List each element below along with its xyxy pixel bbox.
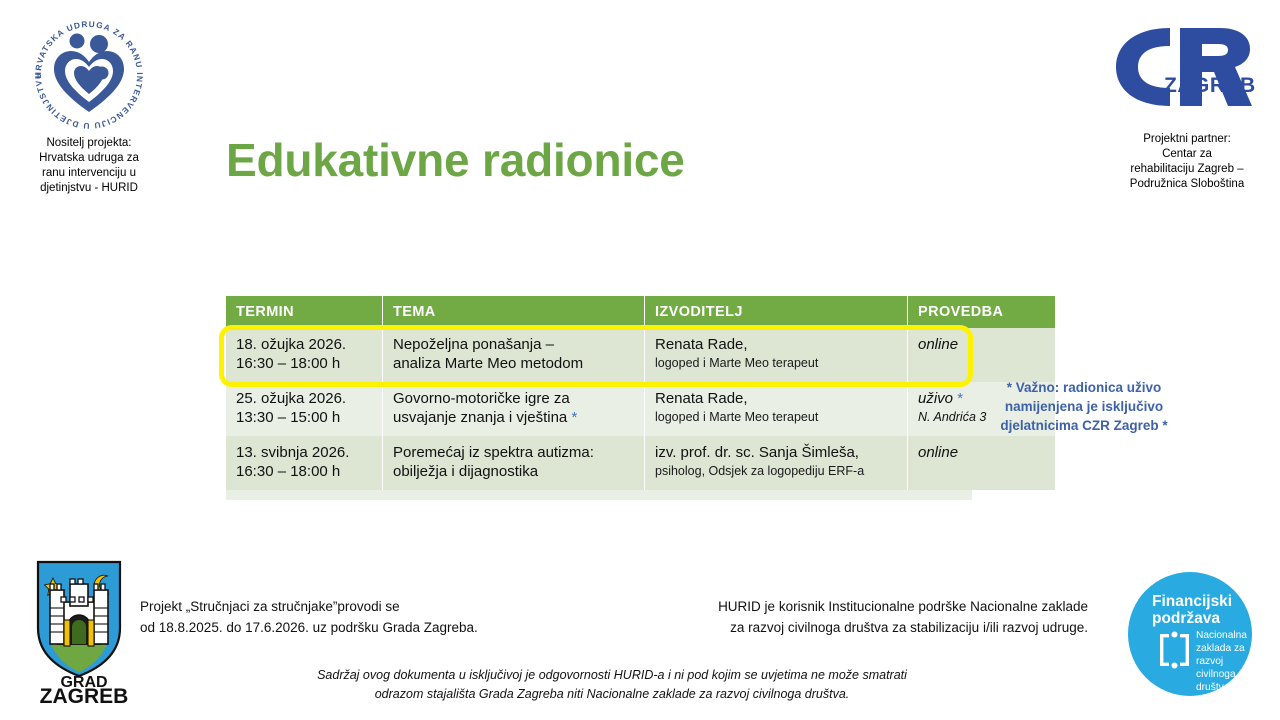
footer-right-line-2: za razvoj civilnoga društva za stabiliza… [660,617,1088,638]
table-row: 18. ožujka 2026. 16:30 – 18:00 h Nepožel… [226,328,1055,382]
cell-izvoditelj: Renata Rade, logoped i Marte Meo terapeu… [645,382,908,436]
cell-izvoditelj: Renata Rade, logoped i Marte Meo terapeu… [645,328,908,382]
hurid-caption-line-1: Nositelj projekta: [6,136,172,151]
nz-title-line-2: podržava [1152,610,1220,627]
termin-date: 18. ožujka 2026. [236,336,346,353]
izvoditelj-name: izv. prof. dr. sc. Sanja Šimleša, [655,444,859,461]
table-bottom-strip [226,490,972,500]
cell-tema: Govorno-motoričke igre za usvajanje znan… [383,382,645,436]
czr-logo-word: ZAGREB [1164,74,1256,97]
column-header-termin: TERMIN [226,296,383,328]
footer-disclaimer: Sadržaj ovog dokumenta u isključivoj je … [300,666,924,704]
provedba-mode: online [918,444,958,461]
nacionalna-zaklada-circle-logo: Financijski podržava Nacionalna zaklada … [1128,572,1252,696]
tema-line-2: analiza Marte Meo metodom [393,355,583,372]
footer-disclaimer-line-2: odrazom stajališta Grada Zagreba niti Na… [300,685,924,704]
hurid-caption: Nositelj projekta: Hrvatska udruga za ra… [6,136,172,196]
czr-caption-line-1: Projektni partner: [1094,132,1280,147]
tema-line-2: usvajanje znanja i vještina [393,409,567,426]
cell-provedba: online [908,436,1056,490]
tema-line-2: obilježja i dijagnostika [393,463,538,480]
cell-provedba: online [908,328,1056,382]
important-note-line-1: * Važno: radionica uživo [975,378,1193,397]
hurid-caption-line-4: djetinjstvu - HURID [6,181,172,196]
page-title: Edukativne radionice [226,133,685,187]
nz-sub-line-5: društva [1196,682,1230,693]
nz-sub-line-2: zaklada za [1196,643,1245,654]
tema-line-1: Nepoželjna ponašanja – [393,336,554,353]
important-note-line-3: djelatnicima CZR Zagreb * [975,416,1193,435]
izvoditelj-role: logoped i Marte Meo terapeut [655,409,897,426]
footer-right-text: HURID je korisnik Institucionalne podršk… [660,596,1088,638]
izvoditelj-name: Renata Rade, [655,390,748,407]
footer-left-line-2: od 18.8.2025. do 17.6.2026. uz podršku G… [140,617,560,638]
czr-caption-line-3: rehabilitaciju Zagreb – [1094,162,1280,177]
tema-asterisk: * [571,409,577,426]
nz-title-line-1: Financijski [1152,593,1232,610]
termin-time: 13:30 – 15:00 h [236,409,340,426]
cell-tema: Poremećaj iz spektra autizma: obilježja … [383,436,645,490]
czr-caption-line-4: Podružnica Sloboština [1094,177,1280,192]
provedba-asterisk: * [957,390,963,407]
czr-zagreb-logo: ZAGREB [1108,24,1260,110]
schedule-table-wrapper: TERMIN TEMA IZVODITELJ PROVEDBA 18. ožuj… [226,296,972,500]
footer-left-text: Projekt „Stručnjaci za stručnjake”provod… [140,596,560,638]
tema-line-1: Govorno-motoričke igre za [393,390,570,407]
cell-termin: 25. ožujka 2026. 13:30 – 15:00 h [226,382,383,436]
provedba-mode: online [918,336,958,353]
schedule-table: TERMIN TEMA IZVODITELJ PROVEDBA 18. ožuj… [226,296,1055,490]
cell-termin: 13. svibnja 2026. 16:30 – 18:00 h [226,436,383,490]
table-row: 25. ožujka 2026. 13:30 – 15:00 h Govorno… [226,382,1055,436]
czr-caption-line-2: Centar za [1094,147,1280,162]
termin-time: 16:30 – 18:00 h [236,463,340,480]
important-note: * Važno: radionica uživo namijenjena je … [975,378,1193,435]
nz-sub-line-1: Nacionalna [1196,630,1247,641]
izvoditelj-role: psiholog, Odsjek za logopediju ERF-a [655,463,897,480]
hurid-caption-line-3: ranu intervenciju u [6,166,172,181]
tema-line-1: Poremećaj iz spektra autizma: [393,444,594,461]
important-note-line-2: namijenjena je isključivo [975,397,1193,416]
grad-zagreb-coat-of-arms: GRAD ZAGREB [28,556,140,704]
column-header-izvoditelj: IZVODITELJ [645,296,908,328]
izvoditelj-name: Renata Rade, [655,336,748,353]
footer-right-line-1: HURID je korisnik Institucionalne podršk… [660,596,1088,617]
cell-izvoditelj: izv. prof. dr. sc. Sanja Šimleša, psihol… [645,436,908,490]
hurid-heart-circle-logo: HRVATSKA UDRUGA ZA RANU INTERVENCIJU U D… [30,16,148,134]
table-header-row: TERMIN TEMA IZVODITELJ PROVEDBA [226,296,1055,328]
izvoditelj-role: logoped i Marte Meo terapeut [655,355,897,372]
table-row: 13. svibnja 2026. 16:30 – 18:00 h Poreme… [226,436,1055,490]
cell-termin: 18. ožujka 2026. 16:30 – 18:00 h [226,328,383,382]
nz-sub-line-4: civilnoga [1196,669,1236,680]
cell-tema: Nepoželjna ponašanja – analiza Marte Meo… [383,328,645,382]
slide-canvas: HRVATSKA UDRUGA ZA RANU INTERVENCIJU U D… [0,0,1280,720]
column-header-provedba: PROVEDBA [908,296,1056,328]
grad-logo-line-2: ZAGREB [40,685,129,704]
footer-disclaimer-line-1: Sadržaj ovog dokumenta u isključivoj je … [300,666,924,685]
termin-date: 25. ožujka 2026. [236,390,346,407]
termin-date: 13. svibnja 2026. [236,444,349,461]
czr-caption: Projektni partner: Centar za rehabilitac… [1094,132,1280,192]
nz-sub-line-3: razvoj [1196,656,1223,667]
column-header-tema: TEMA [383,296,645,328]
hurid-caption-line-2: Hrvatska udruga za [6,151,172,166]
termin-time: 16:30 – 18:00 h [236,355,340,372]
provedba-mode: uživo [918,390,953,407]
footer-left-line-1: Projekt „Stručnjaci za stručnjake”provod… [140,596,560,617]
